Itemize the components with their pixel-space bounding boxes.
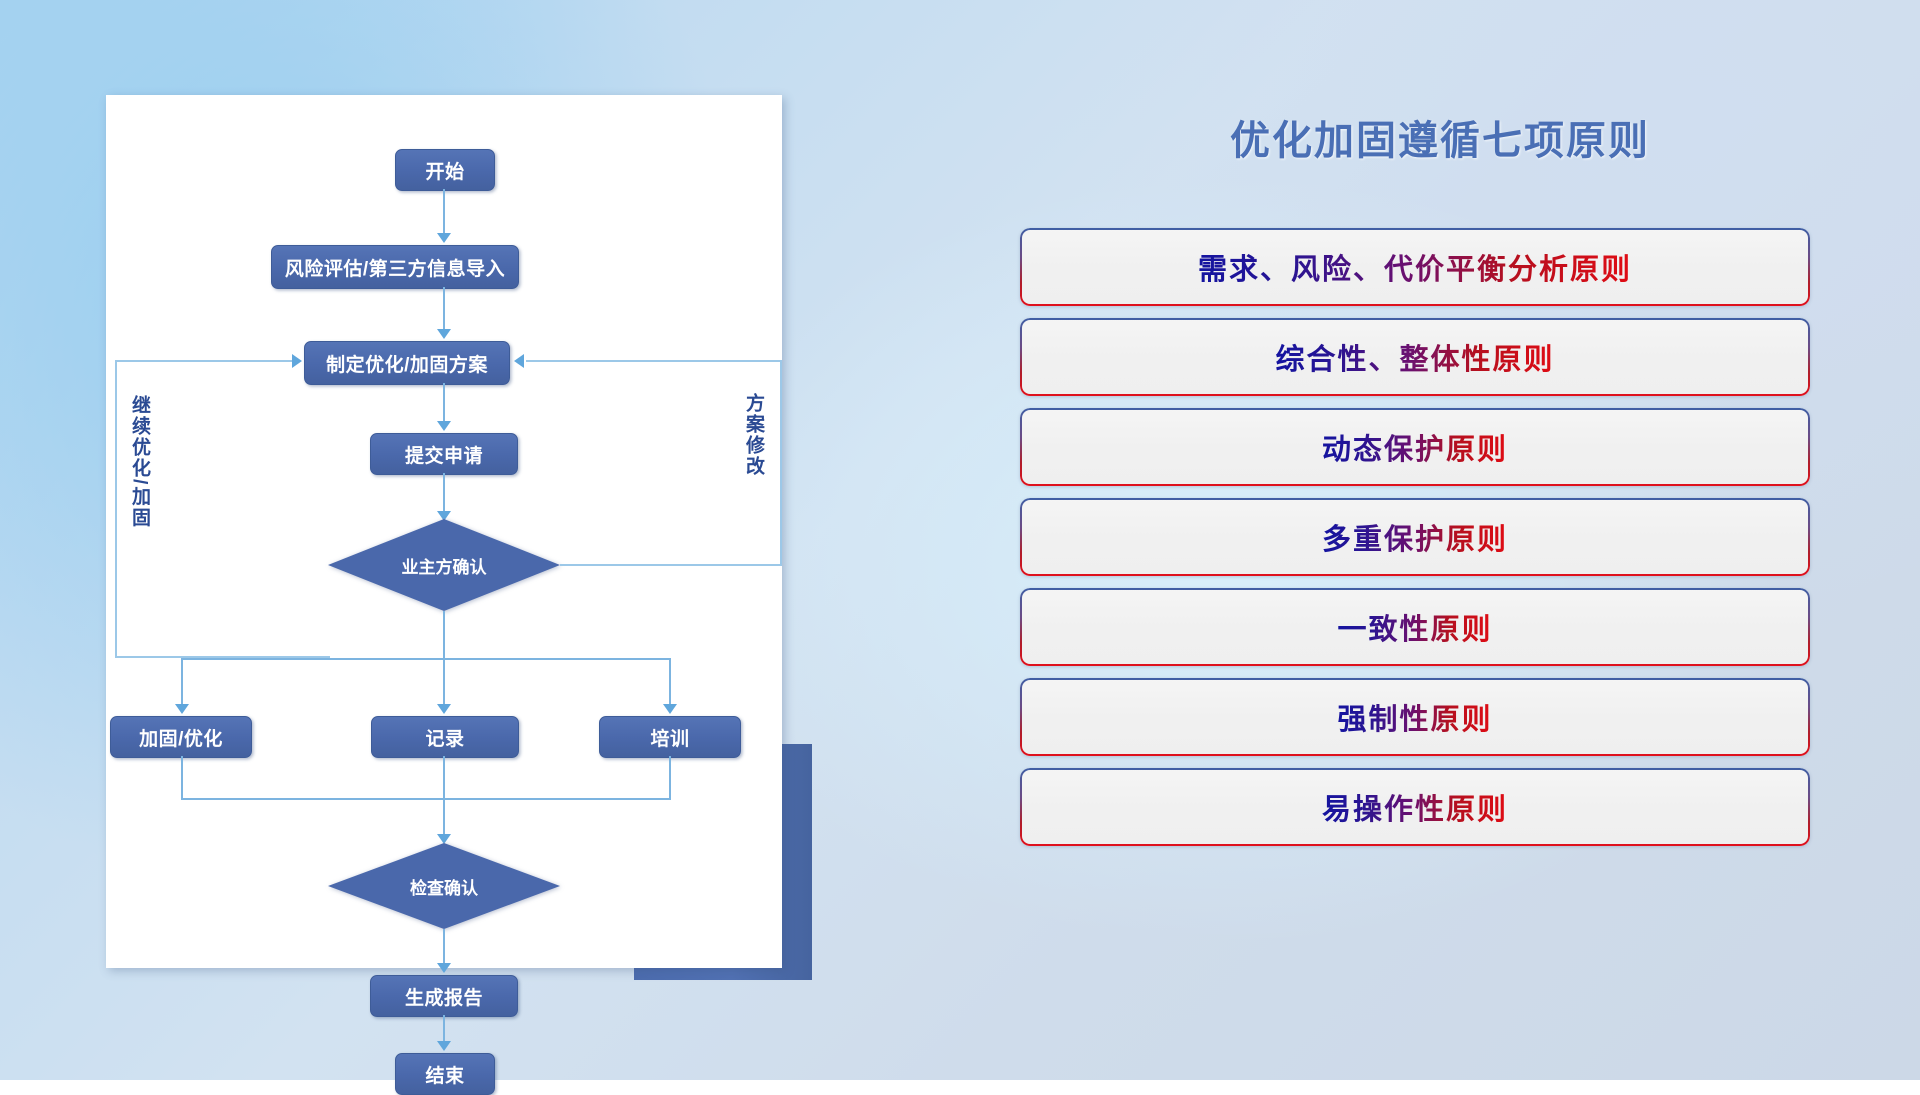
principle-item-3[interactable]: 动态保护原则 [1020,408,1810,486]
node-report[interactable]: 生成报告 [370,975,518,1017]
node-make-plan-label: 制定优化/加固方案 [326,350,488,377]
fanout-right-drop [669,658,671,710]
loop-left-vertical [115,360,117,658]
principle-label-6: 强制性原则 [1337,696,1492,738]
node-owner-confirm[interactable]: 业主方确认 [328,519,560,611]
principle-label-3: 动态保护原则 [1322,426,1508,468]
loop-right-top [526,360,782,362]
node-reinforce[interactable]: 加固/优化 [110,716,252,758]
arrowhead-down-mid-branch [437,704,451,714]
principle-label-2: 综合性、整体性原则 [1275,336,1554,378]
node-submit[interactable]: 提交申请 [370,433,518,475]
node-risk-assessment[interactable]: 风险评估/第三方信息导入 [271,245,519,289]
node-training-label: 培训 [650,724,689,751]
arrowhead-down-right-branch [663,704,677,714]
principle-item-1[interactable]: 需求、风险、代价平衡分析原则 [1020,228,1810,306]
edge-confirm-down [443,611,445,660]
principle-label-5: 一致性原则 [1337,606,1492,648]
node-end-label: 结束 [425,1061,464,1088]
node-reinforce-label: 加固/优化 [139,724,223,751]
node-risk-assessment-label: 风险评估/第三方信息导入 [285,254,505,281]
edge-label-plan-revise: 方案修改 [744,393,763,477]
arrowhead-down-left-branch [175,704,189,714]
edge-risk-to-plan [443,287,445,335]
arrowhead-down-2 [437,329,451,339]
node-training[interactable]: 培训 [599,716,741,758]
node-check-confirm[interactable]: 检查确认 [328,843,560,929]
principle-label-7: 易操作性原则 [1322,786,1508,828]
node-owner-confirm-label: 业主方确认 [402,553,487,578]
principle-item-2[interactable]: 综合性、整体性原则 [1020,318,1810,396]
principle-label-1: 需求、风险、代价平衡分析原则 [1198,246,1632,288]
fanout-mid-drop [443,658,445,710]
principles-panel: 优化加固遵循七项原则 需求、风险、代价平衡分析原则 综合性、整体性原则 动态保护… [1020,90,1860,1020]
node-start[interactable]: 开始 [395,149,495,191]
slide-canvas: 开始 风险评估/第三方信息导入 制定优化/加固方案 提交申请 [0,0,1920,1080]
arrowhead-down-end [437,1041,451,1051]
loop-right-bottom [560,564,782,566]
panel-title: 优化加固遵循七项原则 [1020,108,1860,166]
merge-bus [181,798,671,800]
principle-item-4[interactable]: 多重保护原则 [1020,498,1810,576]
principle-item-7[interactable]: 易操作性原则 [1020,768,1810,846]
node-submit-label: 提交申请 [405,441,483,468]
node-make-plan[interactable]: 制定优化/加固方案 [304,341,510,385]
fanout-left-drop [181,658,183,710]
merge-mid-drop [443,756,445,840]
loop-left-top [115,360,295,362]
arrowhead-right-plan [292,354,302,368]
loop-right-vertical [780,360,782,566]
node-check-confirm-label: 检查确认 [410,874,478,899]
node-record-label: 记录 [425,724,464,751]
node-record[interactable]: 记录 [371,716,519,758]
node-report-label: 生成报告 [405,983,483,1010]
arrowhead-down-report [437,963,451,973]
merge-right-rise [669,756,671,800]
node-end[interactable]: 结束 [395,1053,495,1095]
principle-label-4: 多重保护原则 [1322,516,1508,558]
node-start-label: 开始 [425,157,464,184]
fanout-bus [181,658,671,660]
arrowhead-left-plan [514,354,524,368]
principle-item-5[interactable]: 一致性原则 [1020,588,1810,666]
edge-label-continue-optimize: 继续优化/加固 [130,395,149,528]
principle-item-6[interactable]: 强制性原则 [1020,678,1810,756]
edge-start-to-risk [443,189,445,239]
merge-left-rise [181,756,183,800]
flowchart-card: 开始 风险评估/第三方信息导入 制定优化/加固方案 提交申请 [106,95,782,968]
arrowhead-down-3 [437,421,451,431]
arrowhead-down-1 [437,233,451,243]
flowchart: 开始 风险评估/第三方信息导入 制定优化/加固方案 提交申请 [106,95,782,968]
